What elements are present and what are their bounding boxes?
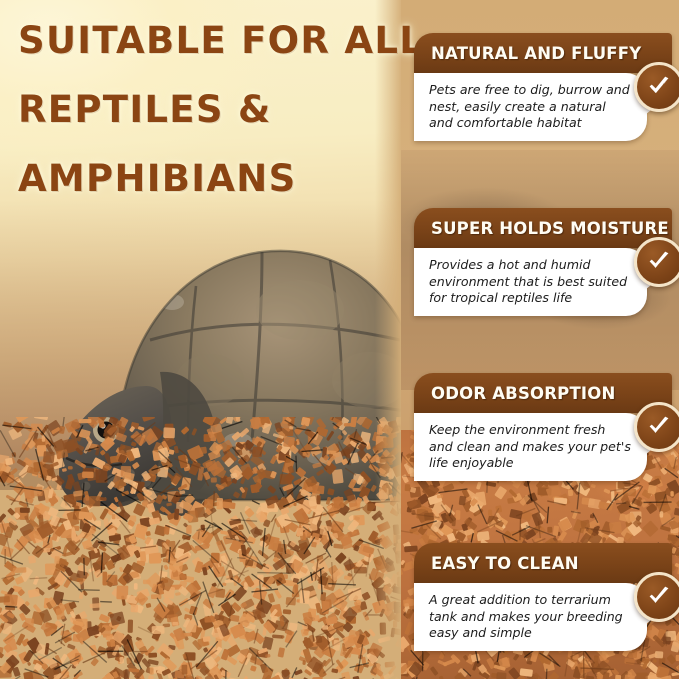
feature-card-body: Pets are free to dig, burrow and nest, e…: [414, 73, 647, 141]
feature-card-header: NATURAL AND FLUFFY: [414, 33, 672, 73]
feature-card-header: EASY TO CLEAN: [414, 543, 672, 583]
page-title: SUITABLE FOR ALL REPTILES & AMPHIBIANS: [18, 22, 390, 197]
feature-card-body: Keep the environment fresh and clean and…: [414, 413, 647, 481]
feature-card-natural-and-fluffy[interactable]: NATURAL AND FLUFFY Pets are free to dig,…: [414, 33, 672, 141]
product-feature-poster: NATURAL AND FLUFFY Pets are free to dig,…: [0, 0, 679, 679]
feature-description: A great addition to terrarium tank and m…: [429, 592, 633, 642]
feature-title: EASY TO CLEAN: [414, 554, 579, 573]
headline-line-2: REPTILES &: [18, 91, 390, 128]
feature-title: SUPER HOLDS MOISTURE: [414, 219, 669, 238]
headline-line-3: AMPHIBIANS: [18, 160, 390, 197]
feature-description: Keep the environment fresh and clean and…: [429, 422, 633, 472]
feature-card-odor-absorption[interactable]: ODOR ABSORPTION Keep the environment fre…: [414, 373, 672, 481]
feature-card-body: A great addition to terrarium tank and m…: [414, 583, 647, 651]
feature-card-easy-to-clean[interactable]: EASY TO CLEAN A great addition to terrar…: [414, 543, 672, 651]
feature-description: Pets are free to dig, burrow and nest, e…: [429, 82, 633, 132]
check-badge-icon: [634, 62, 679, 112]
check-badge-icon: [634, 572, 679, 622]
feature-card-super-holds-moisture[interactable]: SUPER HOLDS MOISTURE Provides a hot and …: [414, 208, 672, 316]
husk-chips: [0, 417, 401, 679]
headline-line-1: SUITABLE FOR ALL: [18, 22, 390, 59]
feature-card-body: Provides a hot and humid environment tha…: [414, 248, 647, 316]
coconut-husk-bedding: [0, 417, 401, 679]
feature-title: ODOR ABSORPTION: [414, 384, 615, 403]
check-badge-icon: [634, 237, 679, 287]
feature-card-header: SUPER HOLDS MOISTURE: [414, 208, 672, 248]
right-features-panel: NATURAL AND FLUFFY Pets are free to dig,…: [401, 0, 679, 679]
check-badge-icon: [634, 402, 679, 452]
feature-title: NATURAL AND FLUFFY: [414, 44, 641, 63]
feature-description: Provides a hot and humid environment tha…: [429, 257, 633, 307]
feature-card-header: ODOR ABSORPTION: [414, 373, 672, 413]
